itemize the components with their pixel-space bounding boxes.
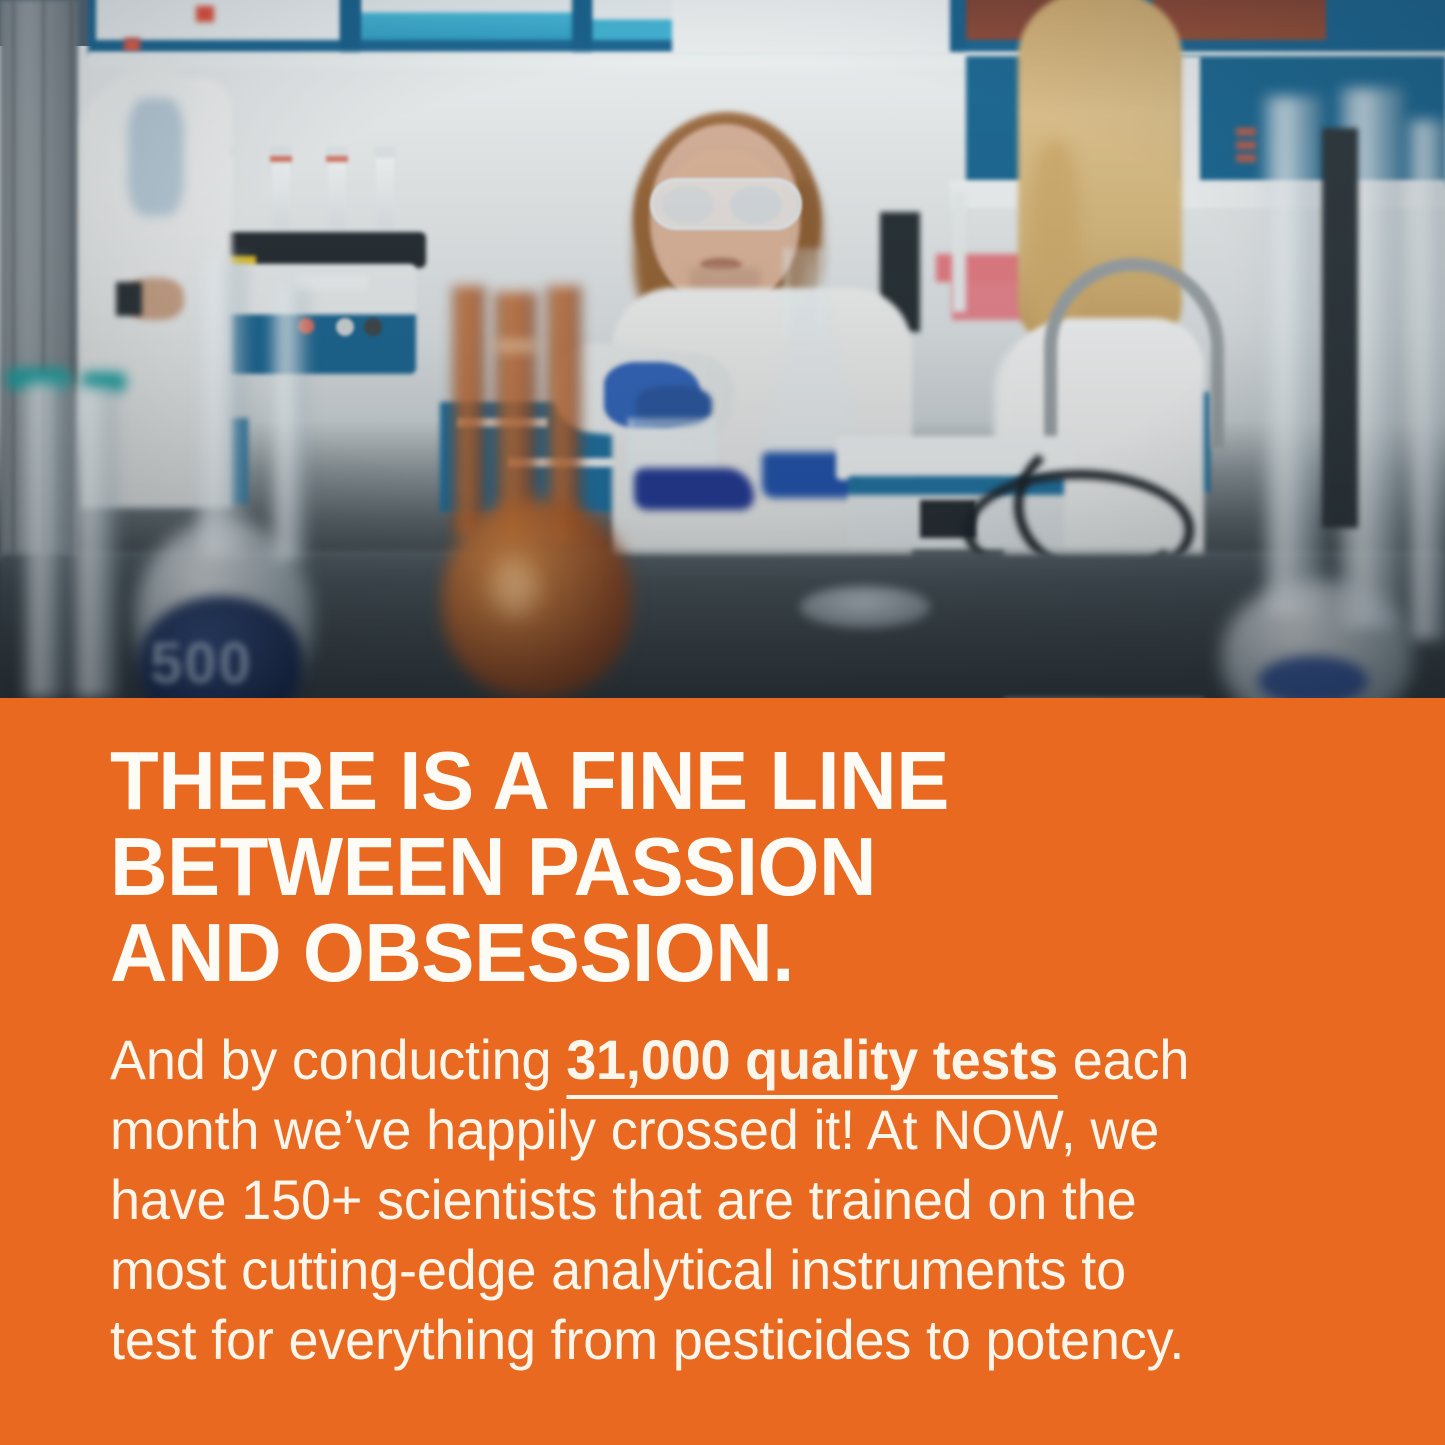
body-line-1-pre: And by conducting xyxy=(110,1028,566,1091)
headline-line-1: THERE IS A FINE LINE xyxy=(110,738,1291,824)
cabinet-glass-left xyxy=(96,0,342,40)
sample-vial-cap-4 xyxy=(374,146,396,158)
cabinet-label-red-2 xyxy=(124,38,140,52)
body-line-2: month we’ve happily crossed it! At NOW, … xyxy=(110,1095,1316,1165)
body-line-3: have 150+ scientists that are trained on… xyxy=(110,1165,1316,1235)
scientist-left-held-device xyxy=(116,282,142,316)
page-title: THERE IS A FINE LINE BETWEEN PASSION AND… xyxy=(110,738,1291,996)
pillar-groove-1 xyxy=(12,0,15,560)
beaker-blue-liquid xyxy=(634,468,754,510)
instrument-knob-1 xyxy=(336,318,354,336)
safety-goggles xyxy=(650,178,802,230)
dark-instrument-right xyxy=(1322,128,1358,528)
foreground-cylinder-left-2 xyxy=(72,386,118,698)
foreground-glass-column-left-2 xyxy=(272,288,308,560)
amber-volumetric-flask-bulb xyxy=(442,498,632,698)
body-line-4: most cutting-edge analytical instruments… xyxy=(110,1235,1316,1305)
sample-vial-2 xyxy=(272,152,290,230)
sample-vial-seal-2 xyxy=(270,156,292,162)
erlenmeyer-flask-neck xyxy=(784,248,824,340)
gooseneck-tube xyxy=(1044,258,1224,448)
amber-column-1 xyxy=(452,286,486,536)
foreground-glass-column-left xyxy=(196,258,246,558)
headline-line-2: BETWEEN PASSION xyxy=(110,824,1291,910)
amber-flask-highlight xyxy=(492,560,538,616)
body-line-1-post: each xyxy=(1058,1028,1189,1091)
foreground-glass-column-right-1 xyxy=(1264,96,1322,616)
body-line-1: And by conducting 31,000 quality tests e… xyxy=(110,1025,1316,1095)
promo-card: 500 THERE IS A FINE LINE BETWEEN PASSION… xyxy=(0,0,1445,1445)
cabinet-post-2 xyxy=(572,0,592,56)
sample-vial-seal-3 xyxy=(326,156,348,162)
body-line-5: test for everything from pesticides to p… xyxy=(110,1305,1316,1375)
amber-flask-ring xyxy=(494,340,538,352)
foreground-cylinder-left xyxy=(24,382,66,698)
flask-volume-label: 500 xyxy=(150,630,253,697)
stat-quality-tests: 31,000 quality tests xyxy=(566,1028,1058,1099)
scientist-left-collar xyxy=(128,98,184,216)
cabinet-glass-mid xyxy=(360,0,576,40)
instrument-knob-2 xyxy=(364,318,382,336)
lab-photograph: 500 xyxy=(0,0,1445,698)
sample-vial-3 xyxy=(328,152,346,230)
headline-line-3: AND OBSESSION. xyxy=(110,910,1291,996)
foreground-glass-column-right-3 xyxy=(1408,120,1445,640)
control-panel-dots xyxy=(1236,128,1256,162)
petri-dish xyxy=(800,586,930,628)
cabinet-post-3 xyxy=(950,0,966,56)
right-instrument-rod xyxy=(952,192,966,312)
cabinet-white-panel xyxy=(672,0,954,56)
orange-callout-panel: THERE IS A FINE LINE BETWEEN PASSION AND… xyxy=(0,698,1445,1445)
cabinet-post-1 xyxy=(340,0,360,56)
body-copy: And by conducting 31,000 quality tests e… xyxy=(110,1025,1316,1375)
sample-vial-4 xyxy=(376,152,394,230)
red-tray-far-right xyxy=(936,254,1024,282)
blue-liquid-right xyxy=(1258,656,1368,698)
cabinet-label-red-1 xyxy=(196,6,214,22)
